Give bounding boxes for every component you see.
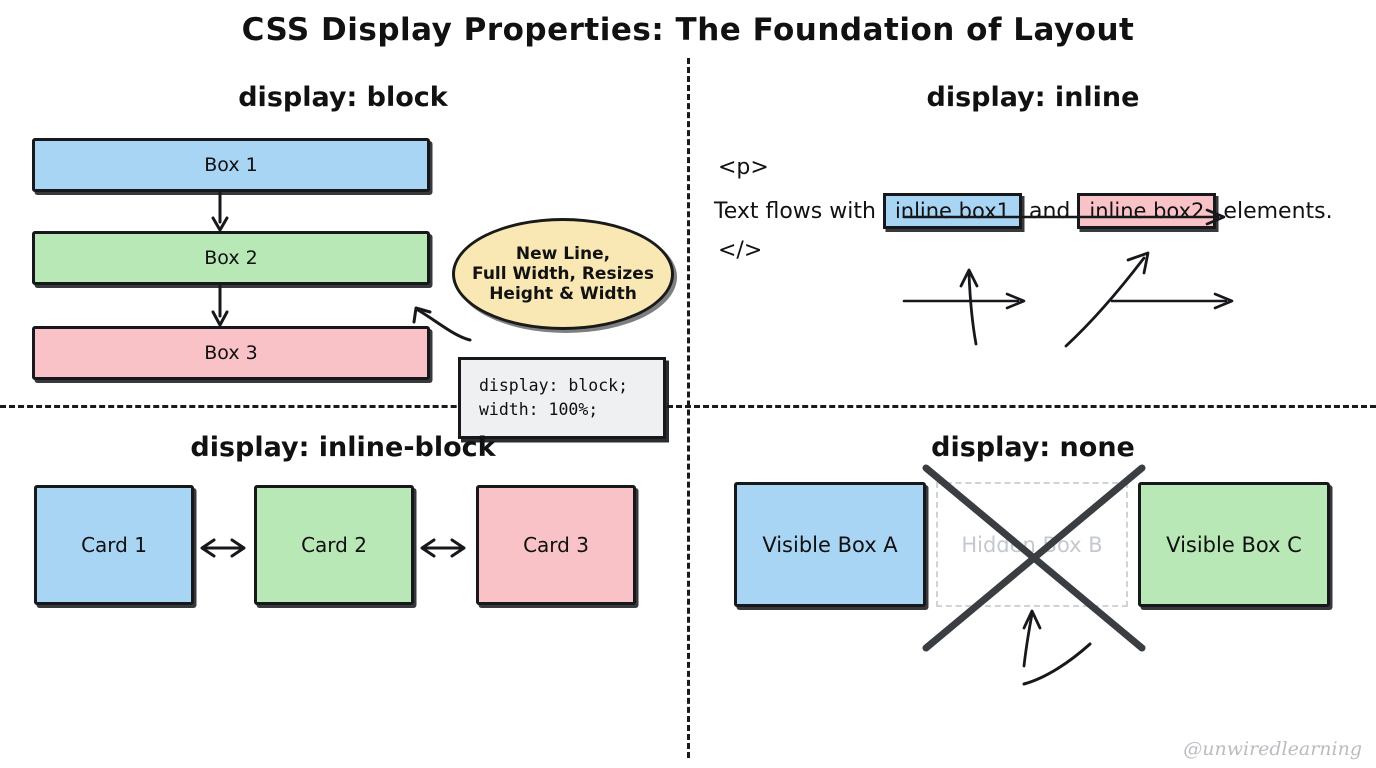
card-1-label: Card 1 (81, 533, 147, 557)
block-box-3-label: Box 3 (204, 342, 257, 364)
quadrant-heading-block: display: block (0, 82, 686, 113)
card-3-label: Card 3 (523, 533, 589, 557)
horizontal-divider (0, 405, 1376, 408)
html-tag-close: </> (718, 238, 762, 263)
card-2: Card 2 (254, 485, 414, 605)
cross-out-x-icon (912, 460, 1156, 656)
quadrant-display-inline-block: display: inline-block Card 1 Card 2 Card… (0, 410, 686, 768)
html-tag-open: <p> (718, 155, 769, 180)
block-box-2-label: Box 2 (204, 247, 257, 269)
card-3: Card 3 (476, 485, 636, 605)
block-box-2: Box 2 (32, 231, 430, 285)
callout-block: New Line, Full Width, Resizes Height & W… (452, 218, 674, 330)
quadrant-heading-inline-block: display: inline-block (0, 432, 686, 463)
infographic-canvas: CSS Display Properties: The Foundation o… (0, 0, 1376, 768)
visible-box-c-label: Visible Box C (1166, 533, 1302, 557)
visible-box-a-label: Visible Box A (762, 533, 897, 557)
down-arrow-icon (210, 192, 230, 234)
block-box-1-label: Box 1 (204, 154, 257, 176)
double-arrow-icon (419, 537, 467, 559)
quadrant-heading-none: display: none (690, 432, 1376, 463)
card-1: Card 1 (34, 485, 194, 605)
down-arrow-icon (210, 285, 230, 329)
quadrant-heading-inline: display: inline (690, 82, 1376, 113)
callout-block-line-1: New Line, (472, 244, 654, 264)
sentence-end: elements. (1223, 199, 1332, 224)
card-2-label: Card 2 (301, 533, 367, 557)
quadrant-display-block: display: block Box 1 Box 2 Box 3 New Lin… (0, 60, 686, 405)
callout-block-line-3: Height & Width (472, 284, 654, 304)
flow-direction-arrow-icon (1110, 292, 1238, 310)
code-block-line-1: display: block; (479, 376, 628, 395)
callout-block-line-2: Full Width, Resizes (472, 264, 654, 284)
block-box-3: Box 3 (32, 326, 430, 380)
double-arrow-icon (199, 537, 247, 559)
flow-direction-arrow-icon (902, 208, 1230, 226)
page-title: CSS Display Properties: The Foundation o… (0, 12, 1376, 48)
block-box-1: Box 1 (32, 138, 430, 192)
sentence-start: Text flows with (714, 199, 876, 224)
quadrant-display-inline: display: inline <p> </> Text flows with … (690, 60, 1376, 405)
watermark: @unwiredlearning (1183, 738, 1362, 760)
quadrant-display-none: display: none Visible Box A Hidden Box B… (690, 410, 1376, 768)
visible-box-c: Visible Box C (1138, 482, 1330, 607)
visible-box-a: Visible Box A (734, 482, 926, 607)
flow-direction-arrow-icon (902, 292, 1030, 310)
